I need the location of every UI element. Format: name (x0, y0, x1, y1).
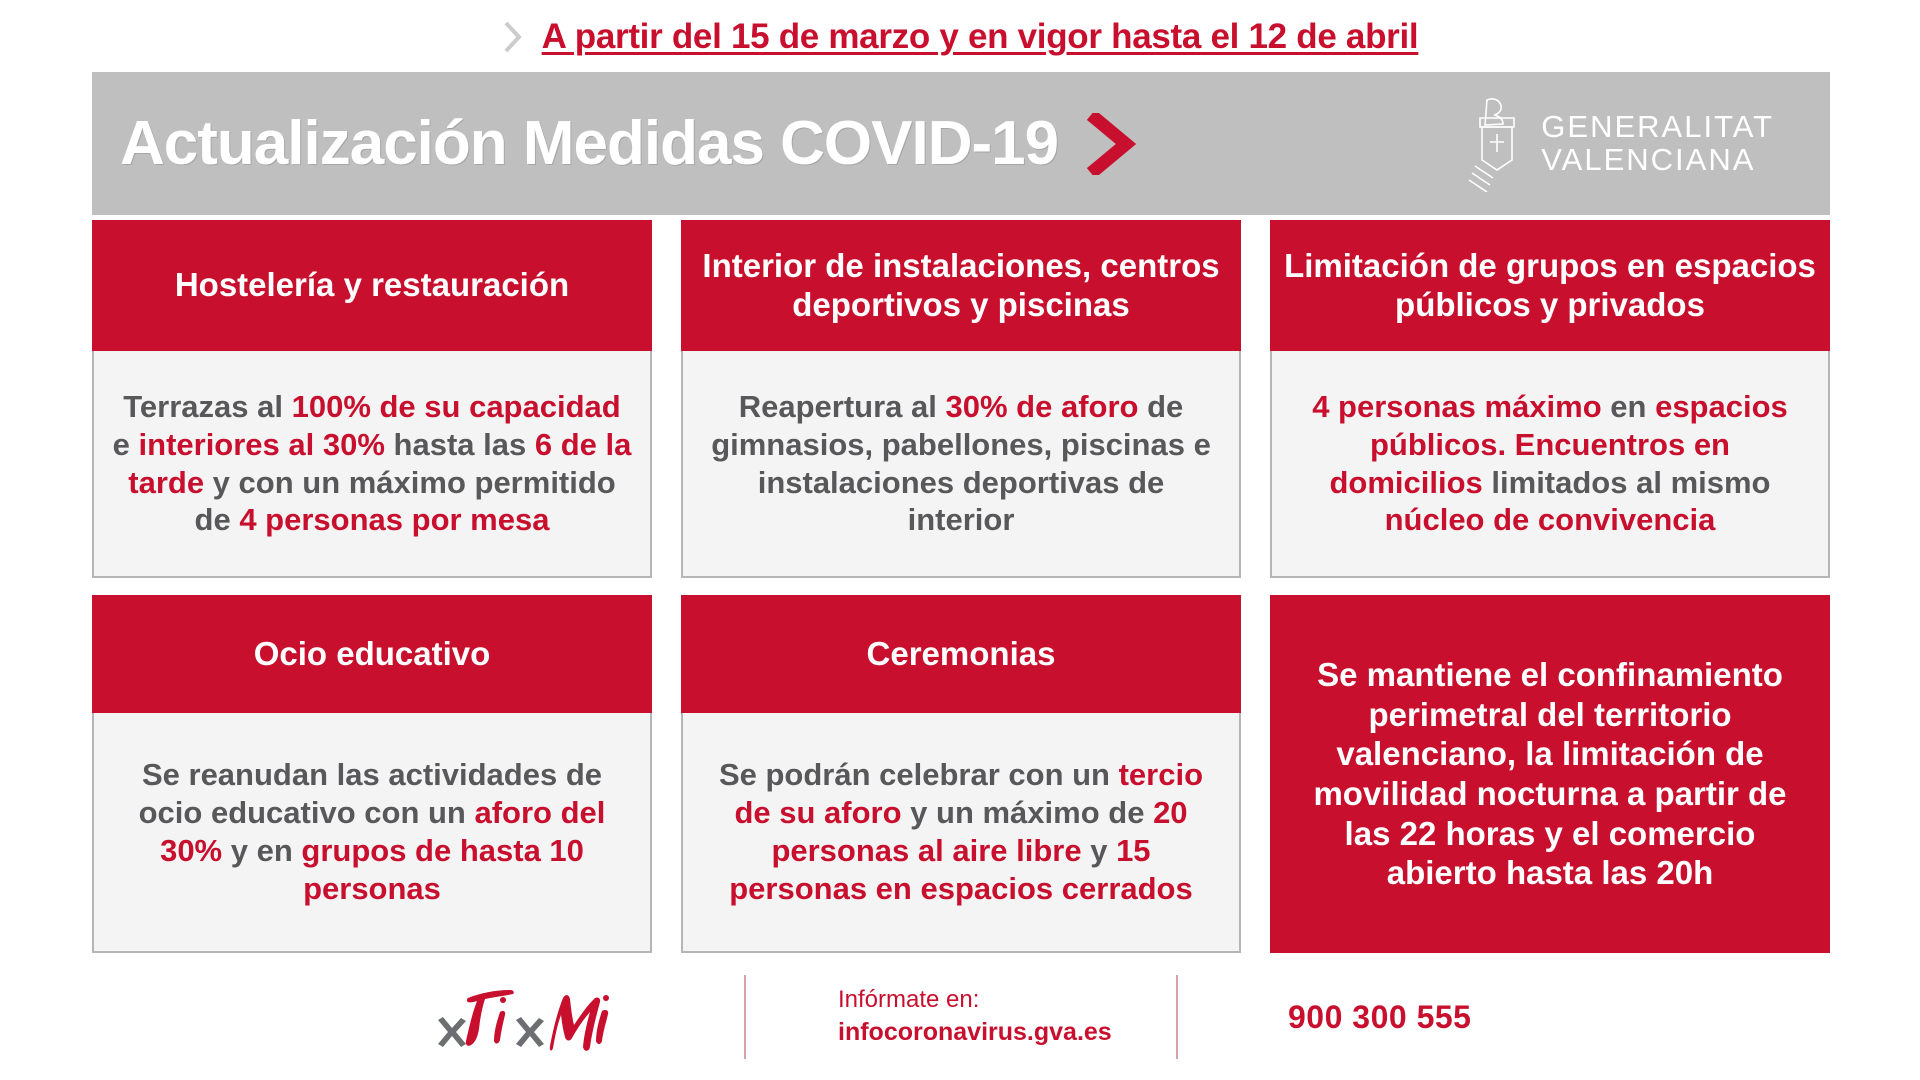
card-title: Limitación de grupos en espacios público… (1270, 220, 1830, 351)
card-body: 4 personas máximo en espacios públicos. … (1270, 351, 1830, 578)
measure-card-hosteleria: Hostelería y restauración Terrazas al 10… (92, 220, 652, 578)
card-title: Interior de instalaciones, centros depor… (681, 220, 1241, 351)
measure-card-instalaciones: Interior de instalaciones, centros depor… (681, 220, 1241, 578)
title-bar: Actualización Medidas COVID-19 GENERALIT… (92, 72, 1830, 215)
card-title: Hostelería y restauración (92, 220, 652, 351)
banner-text: A partir del 15 de marzo y en vigor hast… (542, 17, 1419, 57)
phone-block: 900 300 555 (1178, 974, 1608, 1060)
card-body: Terrazas al 100% de su capacidad e inter… (92, 351, 652, 578)
card-body: Reapertura al 30% de aforo de gimnasios,… (681, 351, 1241, 578)
measure-card-ceremonias: Ceremonias Se podrán celebrar con un ter… (681, 595, 1241, 953)
measures-grid: Hostelería y restauración Terrazas al 10… (92, 220, 1830, 953)
card-text: Reapertura al 30% de aforo de gimnasios,… (701, 388, 1221, 539)
campaign-logo (314, 974, 744, 1060)
card-text: Se reanudan las actividades de ocio educ… (112, 756, 632, 907)
card-text: Se mantiene el confinamiento perimetral … (1296, 655, 1804, 893)
measure-card-confinamiento: Se mantiene el confinamiento perimetral … (1270, 595, 1830, 953)
card-title: Ocio educativo (92, 595, 652, 713)
card-body: Se reanudan las actividades de ocio educ… (92, 713, 652, 953)
info-url[interactable]: infocoronavirus.gva.es (838, 1016, 1112, 1050)
card-text: Terrazas al 100% de su capacidad e inter… (112, 388, 632, 539)
logo-line-2: VALENCIANA (1541, 144, 1774, 177)
info-label: Infórmate en: (838, 984, 1112, 1016)
generalitat-shield-icon (1467, 96, 1525, 192)
measure-card-ocio-educativo: Ocio educativo Se reanudan las actividad… (92, 595, 652, 953)
generalitat-logo: GENERALITAT VALENCIANA (1467, 96, 1774, 192)
page-title: Actualización Medidas COVID-19 (120, 108, 1058, 179)
chevron-right-icon (502, 20, 524, 54)
card-body: Se podrán celebrar con un tercio de su a… (681, 713, 1241, 953)
measure-card-grupos: Limitación de grupos en espacios público… (1270, 220, 1830, 578)
card-text: Se podrán celebrar con un tercio de su a… (701, 756, 1221, 907)
banner: A partir del 15 de marzo y en vigor hast… (0, 12, 1920, 62)
logo-line-1: GENERALITAT (1541, 111, 1774, 144)
info-block: Infórmate en: infocoronavirus.gva.es (746, 974, 1176, 1060)
generalitat-wordmark: GENERALITAT VALENCIANA (1541, 111, 1774, 176)
card-title: Ceremonias (681, 595, 1241, 713)
footer: Infórmate en: infocoronavirus.gva.es 900… (92, 962, 1830, 1072)
phone-number[interactable]: 900 300 555 (1288, 999, 1471, 1036)
chevron-right-icon (1086, 113, 1138, 175)
xtiximi-logo (434, 978, 624, 1056)
card-text: 4 personas máximo en espacios públicos. … (1290, 388, 1810, 539)
infographic-page: A partir del 15 de marzo y en vigor hast… (0, 0, 1920, 1080)
